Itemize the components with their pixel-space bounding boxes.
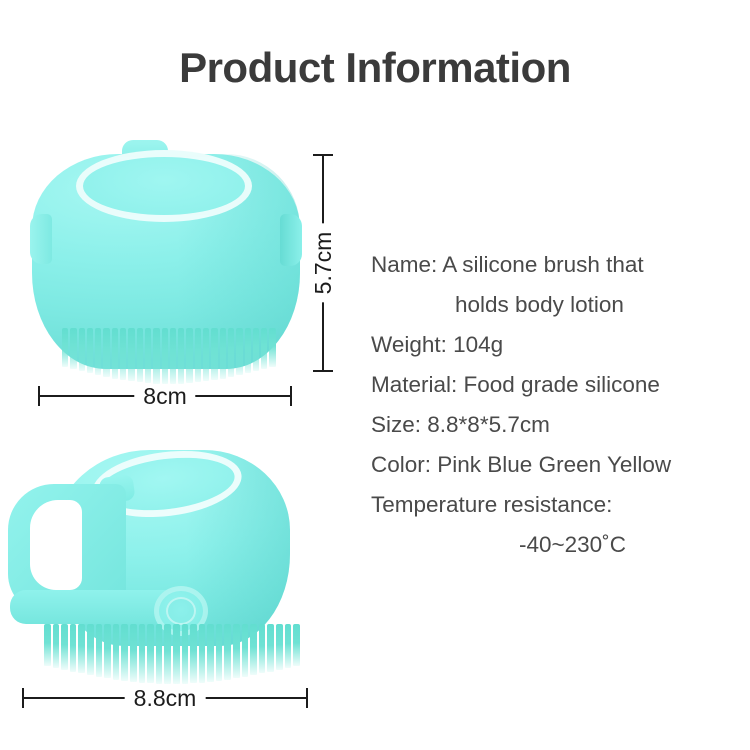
bristle [95,328,101,375]
dimension-cap-right [306,688,308,708]
dimension-height-top: 5.7cm [313,154,333,372]
dimension-cap-left [22,688,24,708]
bristle [139,624,146,683]
bristle [104,624,111,678]
bristle [267,624,274,672]
bristle [130,624,137,682]
bristle [164,624,171,684]
bristle [207,624,214,682]
spec-line: Weight: 104g [371,325,731,365]
bristle [199,624,206,683]
dimension-cap-left [38,386,40,406]
bristle [78,624,85,673]
bristle [103,328,109,377]
product-side-nub-right [280,214,302,266]
bristle [145,328,151,383]
dimension-label-width-bottom: 8.8cm [125,686,206,710]
bristle [128,328,134,381]
spec-line: Material: Food grade silicone [371,365,731,405]
bristle [186,328,192,383]
product-pump-button-inner [166,597,196,625]
bristle [233,624,240,678]
bristle [242,624,249,677]
bristle [228,328,234,377]
bristle [96,624,103,677]
bristle [121,624,128,681]
spec-line: Temperature resistance: [371,485,731,525]
bristle [195,328,201,382]
bristle [259,624,266,673]
bristle [220,328,226,379]
product-side-nub-left [30,214,52,264]
bristle [62,328,68,367]
product-bristles-top [62,328,276,386]
bristle [276,624,283,670]
bristle [253,328,259,371]
spec-line: holds body lotion [371,285,731,325]
bristle [70,624,77,672]
product-hand-strap-hole [30,500,82,590]
bristle [203,328,209,381]
bristle [70,328,76,369]
spec-line: Size: 8.8*8*5.7cm [371,405,731,445]
bristle [285,624,292,668]
bristle [173,624,180,684]
bristle [178,328,184,384]
bristle [87,624,94,675]
bristle [120,328,126,380]
bristle [182,624,189,684]
bristle [224,624,231,680]
product-lid-ring [76,150,252,222]
bristle [245,328,251,373]
bristle [61,624,68,670]
spec-line: Name: A silicone brush that [371,245,731,285]
product-image-top-view [22,136,312,388]
dimension-cap-bottom [313,370,333,372]
bristle [216,624,223,681]
bristle [250,624,257,675]
dimension-width-top: 8cm [38,386,292,406]
bristle [190,624,197,683]
bristle [53,624,60,668]
bristle [153,328,159,384]
dimension-cap-right [290,386,292,406]
product-image-angle-view [8,438,320,688]
bristle [112,328,118,379]
bristle [293,624,300,666]
bristle [44,624,51,666]
product-spec-list: Name: A silicone brush thatholds body lo… [371,245,731,565]
spec-line: Color: Pink Blue Green Yellow [371,445,731,485]
bristle [170,328,176,384]
bristle [156,624,163,684]
bristle [236,328,242,375]
product-bristles-angle [44,624,300,686]
bristle [147,624,154,683]
bristle [79,328,85,371]
dimension-cap-top [313,154,333,156]
bristle [261,328,267,369]
bristle [137,328,143,382]
dimension-width-bottom: 8.8cm [22,688,308,708]
dimension-label-width-top: 8cm [134,384,195,408]
bristle [87,328,93,373]
dimension-label-height-top: 5.7cm [311,224,335,303]
page-title: Product Information [0,44,750,92]
bristle [269,328,275,367]
bristle [162,328,168,384]
spec-line: -40~230˚C [371,525,731,565]
bristle [211,328,217,380]
bristle [113,624,120,680]
